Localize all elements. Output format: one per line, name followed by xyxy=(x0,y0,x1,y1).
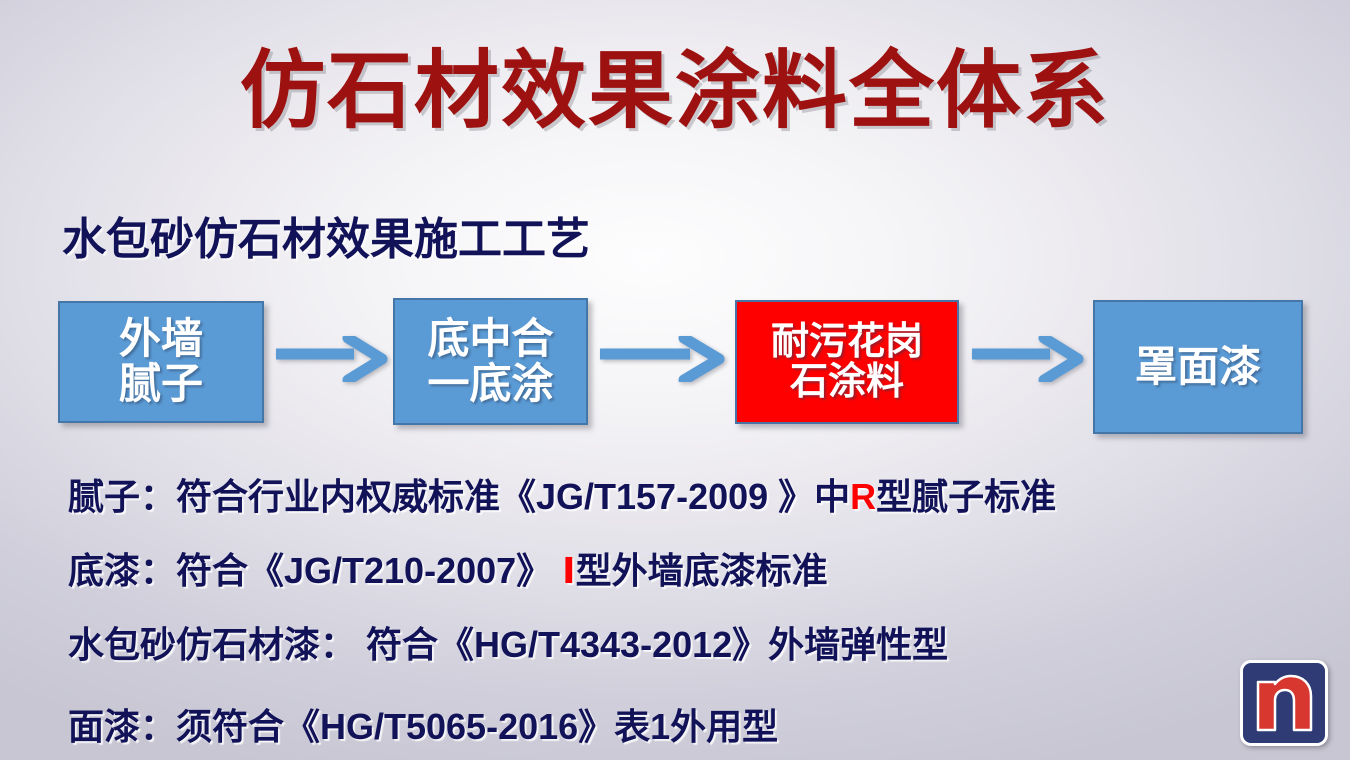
spec-line-stone-paint: 水包砂仿石材漆： 符合《HG/T4343-2012》外墙弹性型 xyxy=(68,616,948,668)
spec-2-before: 底漆：符合《JG/T210-2007》 xyxy=(68,550,562,591)
spec-2-after: 型外墙底漆标准 xyxy=(576,550,828,591)
flow-arrow-3 xyxy=(972,336,1084,382)
process-flow-diagram: 外墙 腻子 底中合 一底涂 耐污花岗 石涂料 xyxy=(0,296,1350,441)
logo-letter-n-icon xyxy=(1254,672,1314,734)
spec-line-topcoat: 面漆：须符合《HG/T5065-2016》表1外用型 xyxy=(68,698,778,750)
flow-arrow-2 xyxy=(600,336,725,382)
spec-1-highlight: R xyxy=(850,476,876,517)
flow-step-3-stain-resistant-granite-coating[interactable]: 耐污花岗 石涂料 xyxy=(735,300,959,424)
slide-canvas: 仿石材效果涂料全体系 水包砂仿石材效果施工工艺 外墙 腻子 底中合 一底涂 耐污… xyxy=(0,0,1350,760)
flow-step-1-exterior-putty[interactable]: 外墙 腻子 xyxy=(58,301,264,423)
spec-line-primer: 底漆：符合《JG/T210-2007》 Ⅰ型外墙底漆标准 xyxy=(68,542,828,594)
flow-step-2-line2: 一底涂 xyxy=(427,362,553,407)
company-logo xyxy=(1240,660,1328,746)
spec-3-before: 水包砂仿石材漆： 符合《HG/T4343-2012》外墙弹性型 xyxy=(68,624,948,665)
flow-step-4-line1: 罩面漆 xyxy=(1135,345,1261,390)
section-subtitle: 水包砂仿石材效果施工工艺 xyxy=(62,203,590,267)
spec-4-before: 面漆：须符合《HG/T5065-2016》表1外用型 xyxy=(68,706,778,747)
flow-step-3-line2: 石涂料 xyxy=(790,362,904,402)
flow-step-1-line1: 外墙 xyxy=(119,317,203,362)
flow-step-4-topcoat[interactable]: 罩面漆 xyxy=(1093,300,1303,434)
flow-step-2-primer-combo[interactable]: 底中合 一底涂 xyxy=(393,298,588,425)
spec-2-highlight: Ⅰ xyxy=(562,550,575,591)
spec-1-after: 型腻子标准 xyxy=(876,476,1056,517)
flow-step-2-line1: 底中合 xyxy=(427,317,553,362)
flow-step-3-line1: 耐污花岗 xyxy=(771,322,923,362)
flow-arrow-1 xyxy=(276,336,388,382)
flow-step-1-line2: 腻子 xyxy=(119,362,203,407)
page-title: 仿石材效果涂料全体系 xyxy=(0,22,1350,145)
spec-line-putty: 腻子：符合行业内权威标准《JG/T157-2009 》中R型腻子标准 xyxy=(68,468,1056,520)
spec-1-before: 腻子：符合行业内权威标准《JG/T157-2009 》中 xyxy=(68,476,850,517)
